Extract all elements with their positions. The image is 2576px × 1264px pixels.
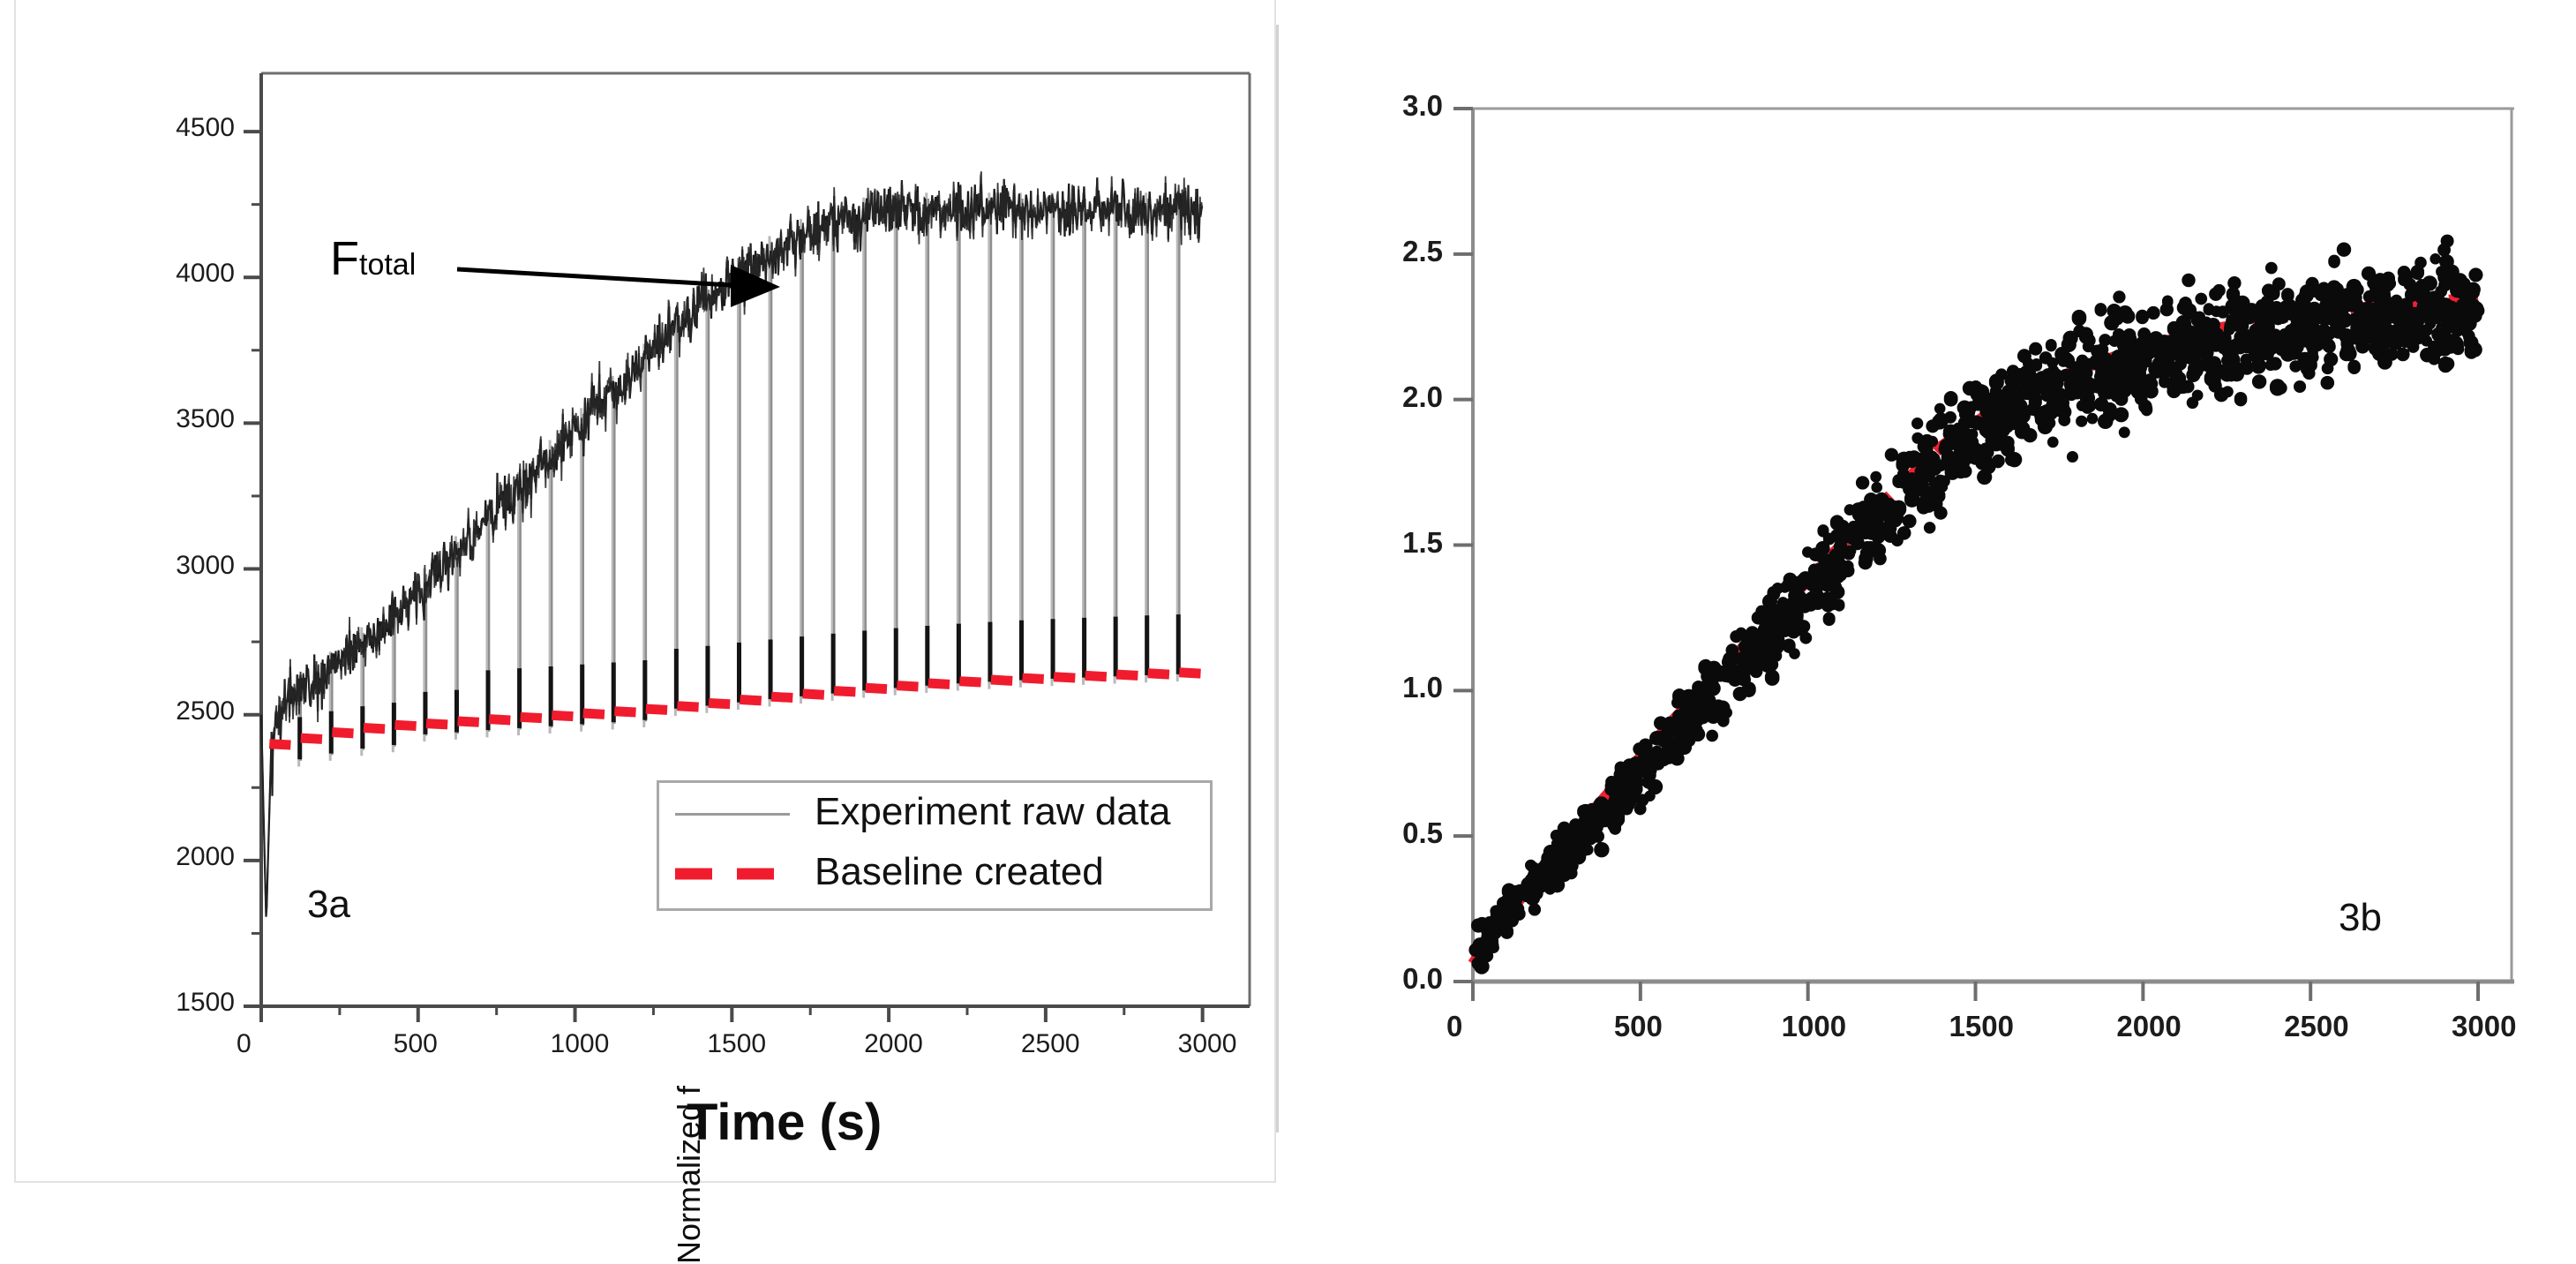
figure-root: Fluorescence intensity (counts per secon… <box>0 0 2576 1208</box>
panel-b-frame <box>1473 109 2514 982</box>
legend-item-baseline: Baseline created <box>659 848 1210 905</box>
panel-a-ytick-label: 4500 <box>146 113 235 143</box>
panel-a-baseline <box>269 673 1200 745</box>
panel-3a: Fluorescence intensity (counts per secon… <box>14 0 1276 1183</box>
panel-a-xtick-label: 0 <box>237 1029 252 1059</box>
panel-a-ftotal-arrow-icon <box>457 265 780 307</box>
legend-label-baseline: Baseline created <box>815 850 1104 894</box>
panel-b-xtick-label: 2000 <box>2116 1010 2181 1043</box>
panel-a-xtick-label: 2000 <box>864 1029 923 1059</box>
panel-a-xtick-label: 1000 <box>551 1029 610 1059</box>
panel-a-ytick-label: 3000 <box>146 551 235 581</box>
legend-swatch-dashed-line <box>675 866 790 882</box>
panel-a-xtick-label: 3000 <box>1178 1029 1237 1059</box>
panel-b-ytick-label: 1.5 <box>1358 526 1443 560</box>
panel-b-xtick-label: 1000 <box>1782 1010 1846 1043</box>
panel-b-ytick-label: 3.0 <box>1358 89 1443 123</box>
panel-b-ytick-label: 1.0 <box>1358 671 1443 704</box>
panel-b-xtick-label: 2500 <box>2284 1010 2348 1043</box>
panel-a-xtick-label: 1500 <box>707 1029 766 1059</box>
panel-a-xtick-label: 2500 <box>1021 1029 1080 1059</box>
panel-b-xtick-label: 500 <box>1614 1010 1663 1043</box>
panel-b-scatter-points <box>1468 235 2484 974</box>
legend-item-raw-data: Experiment raw data <box>659 788 1210 845</box>
panel-b-axes <box>1473 109 2514 982</box>
legend-label-raw-data: Experiment raw data <box>815 790 1171 834</box>
panel-b-plot-area <box>1288 0 2559 1183</box>
panel-a-ytick-label: 4000 <box>146 259 235 289</box>
panel-b-ytick-label: 0.5 <box>1358 816 1443 850</box>
panel-a-ytick-label: 2000 <box>146 842 235 872</box>
panel-a-ytick-label: 3500 <box>146 404 235 434</box>
panel-divider <box>1276 25 1279 1132</box>
panel-a-legend: Experiment raw data Baseline created <box>657 780 1213 911</box>
legend-swatch-solid-line <box>675 813 790 816</box>
panel-b-ytick-label: 2.5 <box>1358 235 1443 268</box>
panel-b-ytick-label: 2.0 <box>1358 380 1443 414</box>
panel-a-ytick-label: 1500 <box>146 988 235 1018</box>
ftotal-symbol: F <box>330 232 359 285</box>
panel-b-xtick-label: 0 <box>1446 1010 1462 1043</box>
panel-b-ticks <box>1453 109 2478 1001</box>
panel-b-xtick-label: 1500 <box>1949 1010 2014 1043</box>
panel-3b: Normalized f Time 0500100015002000250030… <box>1288 0 2559 1183</box>
panel-a-ytick-label: 2500 <box>146 696 235 726</box>
panel-b-tag: 3b <box>2339 896 2382 940</box>
panel-a-tag: 3a <box>307 883 350 927</box>
panel-b-xtick-label: 3000 <box>2452 1010 2516 1043</box>
panel-a-ftotal-annotation: Ftotal <box>330 231 416 286</box>
panel-b-ytick-label: 0.0 <box>1358 962 1443 996</box>
panel-a-xtick-label: 500 <box>394 1029 438 1059</box>
ftotal-subscript: total <box>359 248 416 282</box>
panel-b-y-axis-title: Normalized f <box>671 1086 708 1264</box>
